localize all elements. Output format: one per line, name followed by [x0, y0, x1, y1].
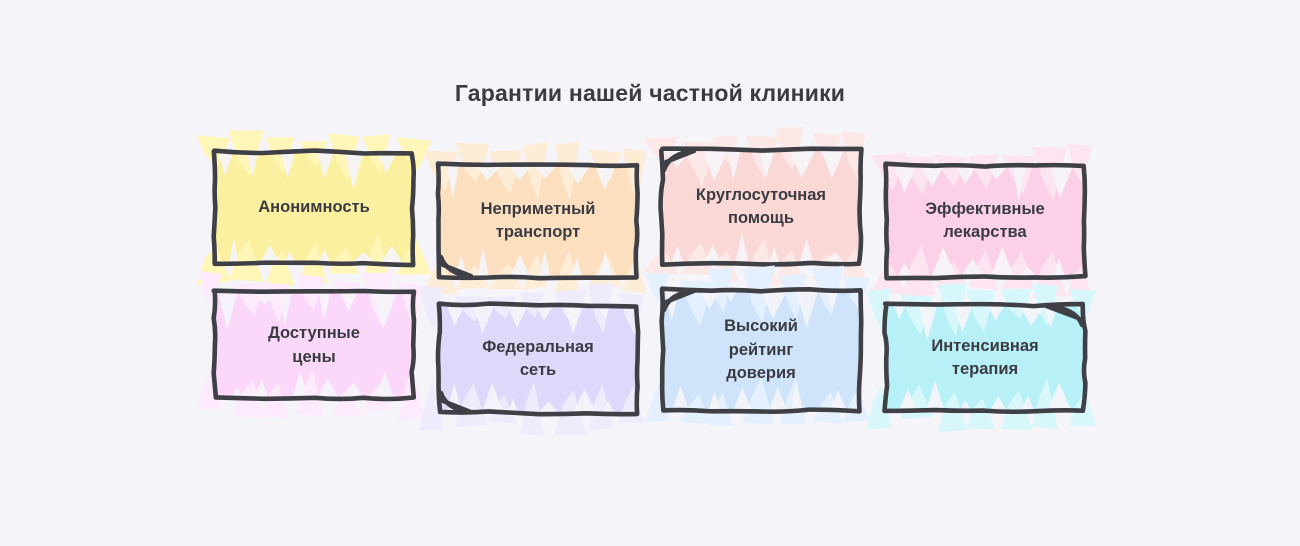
- feature-card-federal-network[interactable]: Федеральная сеть: [437, 303, 639, 415]
- feature-card-high-trust-rating[interactable]: Высокий рейтинг доверия: [660, 288, 862, 413]
- feature-card-affordable-prices[interactable]: Доступные цены: [213, 290, 415, 401]
- card-sketch-federal-network: [411, 277, 665, 441]
- infographic-canvas: Гарантии нашей частной клиники Анонимнос…: [0, 0, 1300, 546]
- feature-card-effective-medicines[interactable]: Эффективные лекарства: [884, 163, 1086, 279]
- card-sketch-affordable-prices: [187, 264, 441, 427]
- page-title: Гарантии нашей частной клиники: [0, 80, 1300, 107]
- feature-card-anonymity[interactable]: Анонимность: [213, 150, 415, 266]
- feature-card-discreet-transport[interactable]: Неприметный транспорт: [437, 163, 639, 279]
- card-sketch-intensive-therapy: [858, 277, 1112, 439]
- card-sketch-high-trust-rating: [634, 262, 888, 439]
- feature-card-intensive-therapy[interactable]: Интенсивная терапия: [884, 303, 1086, 413]
- feature-card-round-the-clock-help[interactable]: Круглосуточная помощь: [660, 148, 862, 266]
